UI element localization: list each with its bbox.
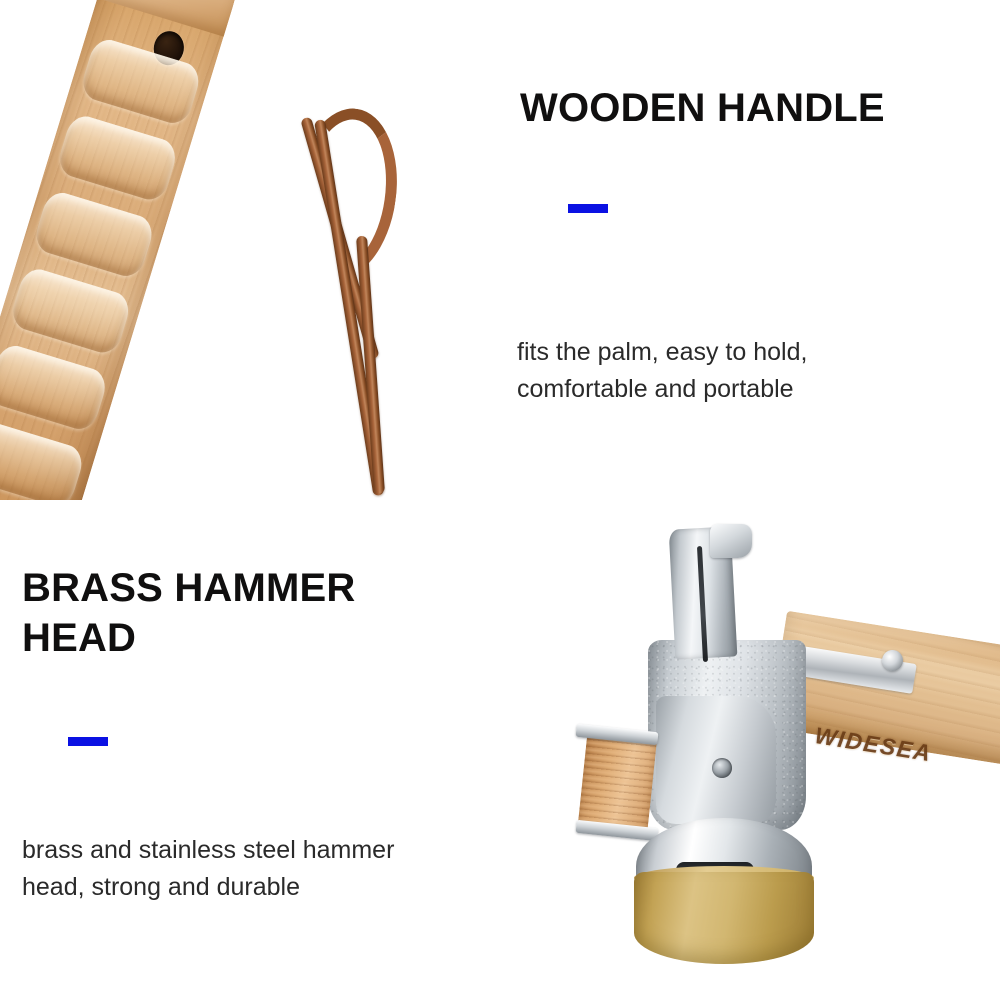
wooden-handle-shaft	[0, 0, 241, 500]
wooden-handle-photo	[0, 0, 500, 500]
hammer-head-screw	[712, 758, 732, 778]
feature-title-wooden-handle: WOODEN HANDLE	[520, 83, 885, 133]
finger-grip-groove	[55, 112, 180, 204]
feature-title-brass-hammer-head: BRASS HAMMER HEAD	[22, 563, 356, 663]
product-feature-page: WOODEN HANDLE fits the palm, easy to hol…	[0, 0, 1000, 1000]
finger-grip-groove	[0, 418, 87, 500]
brass-striking-face	[634, 872, 814, 964]
accent-bar-brass-hammer-head	[68, 737, 108, 746]
handle-rivet	[882, 650, 903, 671]
hammer-head-photo: WIDESEA	[560, 500, 1000, 1000]
finger-grip-groove	[31, 188, 156, 280]
feature-description-brass-hammer-head: brass and stainless steel hammer head, s…	[22, 832, 394, 906]
finger-grip-groove	[0, 341, 110, 433]
finger-grip-groove	[8, 265, 133, 357]
feature-description-wooden-handle: fits the palm, easy to hold, comfortable…	[517, 334, 807, 408]
accent-bar-wooden-handle	[568, 204, 608, 213]
finger-grip-groove	[78, 35, 203, 127]
hammer-claw-beak	[710, 524, 752, 558]
